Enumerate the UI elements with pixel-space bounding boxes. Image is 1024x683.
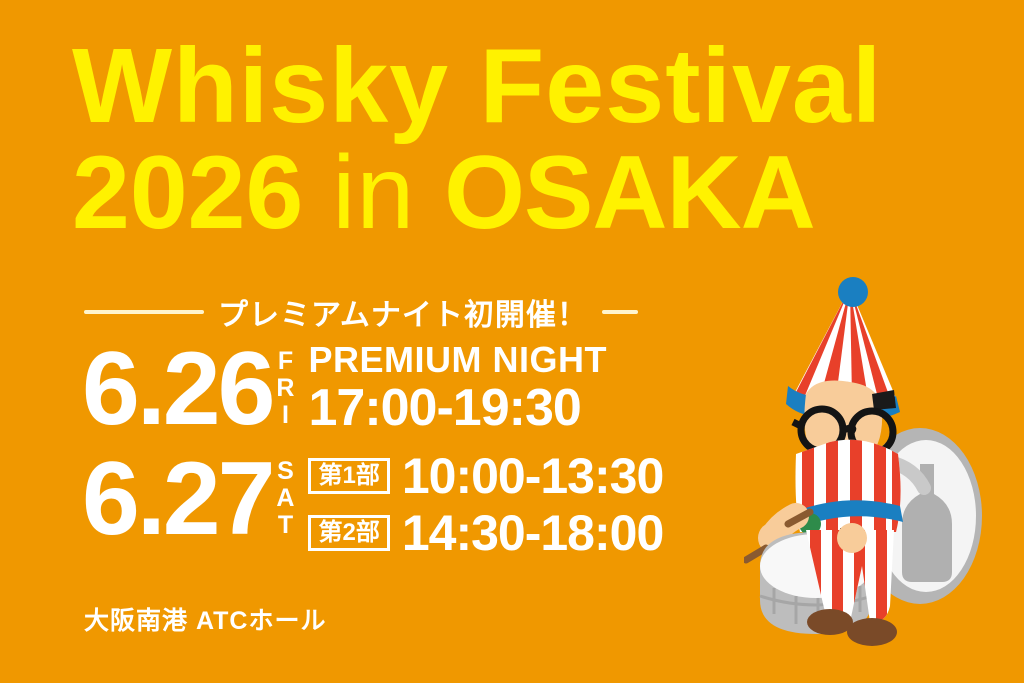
subtitle-row: プレミアムナイト初開催！ [84,292,664,332]
clown-drummer-icon [744,266,1024,666]
times-day1: PREMIUM NIGHT 17:00-19:30 [308,340,607,436]
part-badge-1: 第1部 [308,458,389,494]
weekday-letter: A [276,485,294,512]
part-row-2: 第2部 14:30-18:00 [308,507,663,560]
weekday-letter: R [276,375,294,402]
title-line-year-city: 2026 in OSAKA [72,144,982,244]
title-line-main: Whisky Festival [72,36,982,138]
schedule-row-day2: 6.27 S A T 第1部 10:00-13:30 第2部 14:30-18:… [82,446,762,563]
weekday-letter: S [276,458,294,485]
premium-night-label: PREMIUM NIGHT [308,340,607,380]
subtitle-text: プレミアムナイト初開催！ [218,290,588,334]
venue-text: 大阪南港 ATCホール [84,601,326,637]
title-preposition: in [332,135,415,251]
part-row-1: 第1部 10:00-13:30 [308,450,663,503]
poster-title: Whisky Festival 2026 in OSAKA [72,36,982,244]
weekday-day1: F R I [276,348,294,429]
rule-right-decoration [602,310,638,314]
times-day2: 第1部 10:00-13:30 第2部 14:30-18:00 [308,450,663,563]
poster-canvas: Whisky Festival 2026 in OSAKA プレミアムナイト初開… [0,0,1024,683]
schedule-block: 6.26 F R I PREMIUM NIGHT 17:00-19:30 6.2… [82,336,762,567]
hat-pompom [838,277,868,307]
weekday-letter: I [276,402,294,429]
time-premium-night: 17:00-19:30 [308,380,607,436]
date-day2: 6.27 [82,446,272,552]
title-city: OSAKA [444,135,815,251]
part-badge-2: 第2部 [308,515,389,551]
date-day1: 6.26 [82,336,272,442]
weekday-letter: F [276,348,294,375]
rule-left-decoration [84,310,204,314]
weekday-day2: S A T [276,458,294,539]
schedule-row-day1: 6.26 F R I PREMIUM NIGHT 17:00-19:30 [82,336,762,442]
time-part-1: 10:00-13:30 [402,450,663,503]
time-part-2: 14:30-18:00 [402,507,663,560]
right-hand [837,523,867,553]
title-year: 2026 [72,135,303,251]
weekday-letter: T [276,512,294,539]
